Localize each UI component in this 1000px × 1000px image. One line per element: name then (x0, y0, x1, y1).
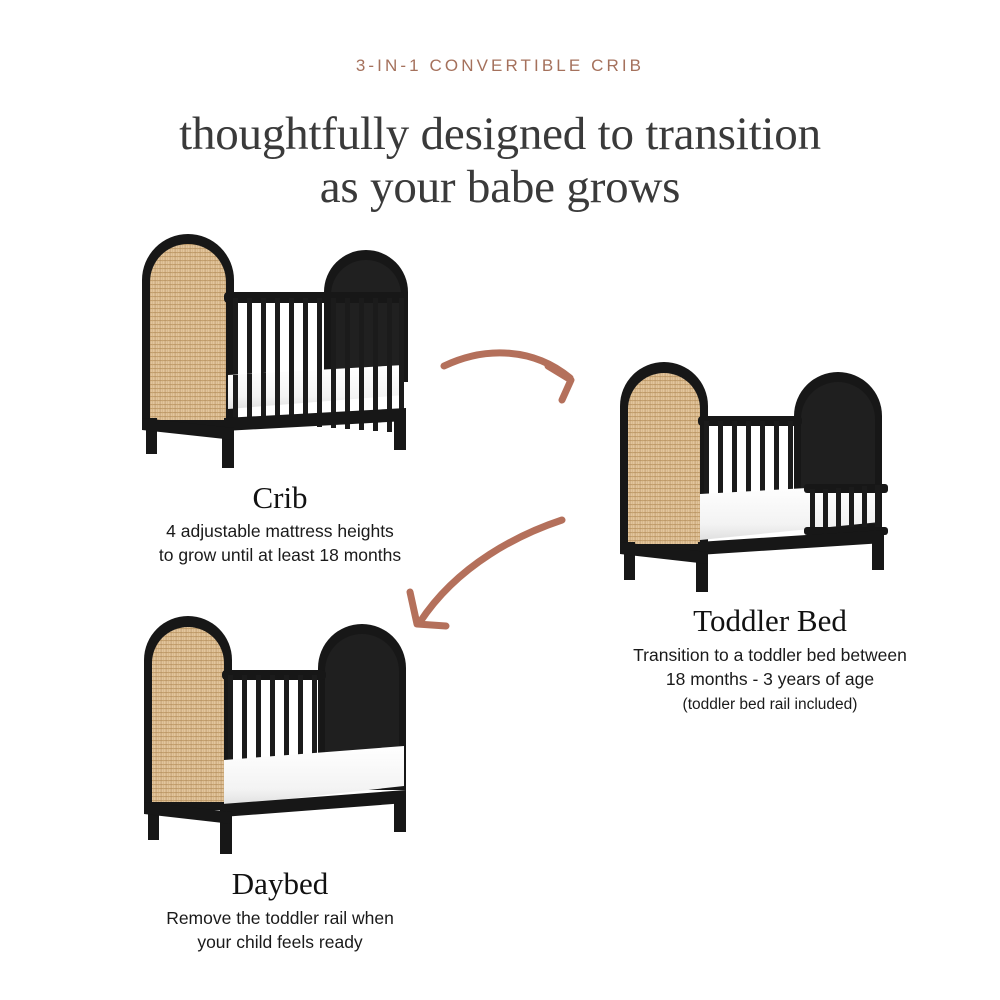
eyebrow-label: 3-IN-1 CONVERTIBLE CRIB (0, 56, 1000, 76)
toddler-body-line-1: Transition to a toddler bed between (633, 645, 907, 665)
daybed-caption-title: Daybed (120, 866, 440, 902)
daybed-cane-panel (144, 616, 232, 810)
daybed-body-line-2: your child feels ready (197, 932, 362, 952)
crib-body-line-2: to grow until at least 18 months (159, 545, 401, 565)
daybed-caption-body: Remove the toddler rail when your child … (110, 906, 450, 954)
toddler-bed-product-image (608, 364, 908, 604)
infographic-canvas: 3-IN-1 CONVERTIBLE CRIB thoughtfully des… (0, 0, 1000, 1000)
daybed-body-line-1: Remove the toddler rail when (166, 908, 394, 928)
crib-footboard (324, 250, 408, 382)
crib-body-line-1: 4 adjustable mattress heights (166, 521, 394, 541)
crib-caption-title: Crib (120, 480, 440, 516)
crib-product-image (128, 232, 438, 482)
toddler-caption-title: Toddler Bed (590, 603, 950, 639)
toddler-cane-panel (620, 362, 708, 552)
toddler-caption-body: Transition to a toddler bed between 18 m… (560, 643, 980, 717)
crib-caption-body: 4 adjustable mattress heights to grow un… (100, 519, 460, 567)
daybed-product-image (134, 620, 424, 855)
headline-line-2: as your babe grows (0, 161, 1000, 214)
crib-headboard-cane (142, 234, 234, 428)
toddler-body-line-2: 18 months - 3 years of age (666, 669, 874, 689)
page-title: thoughtfully designed to transition as y… (0, 108, 1000, 214)
toddler-body-note: (toddler bed rail included) (560, 693, 980, 717)
headline-line-1: thoughtfully designed to transition (179, 108, 821, 160)
arrow-crib-to-toddler-icon (438, 322, 598, 402)
